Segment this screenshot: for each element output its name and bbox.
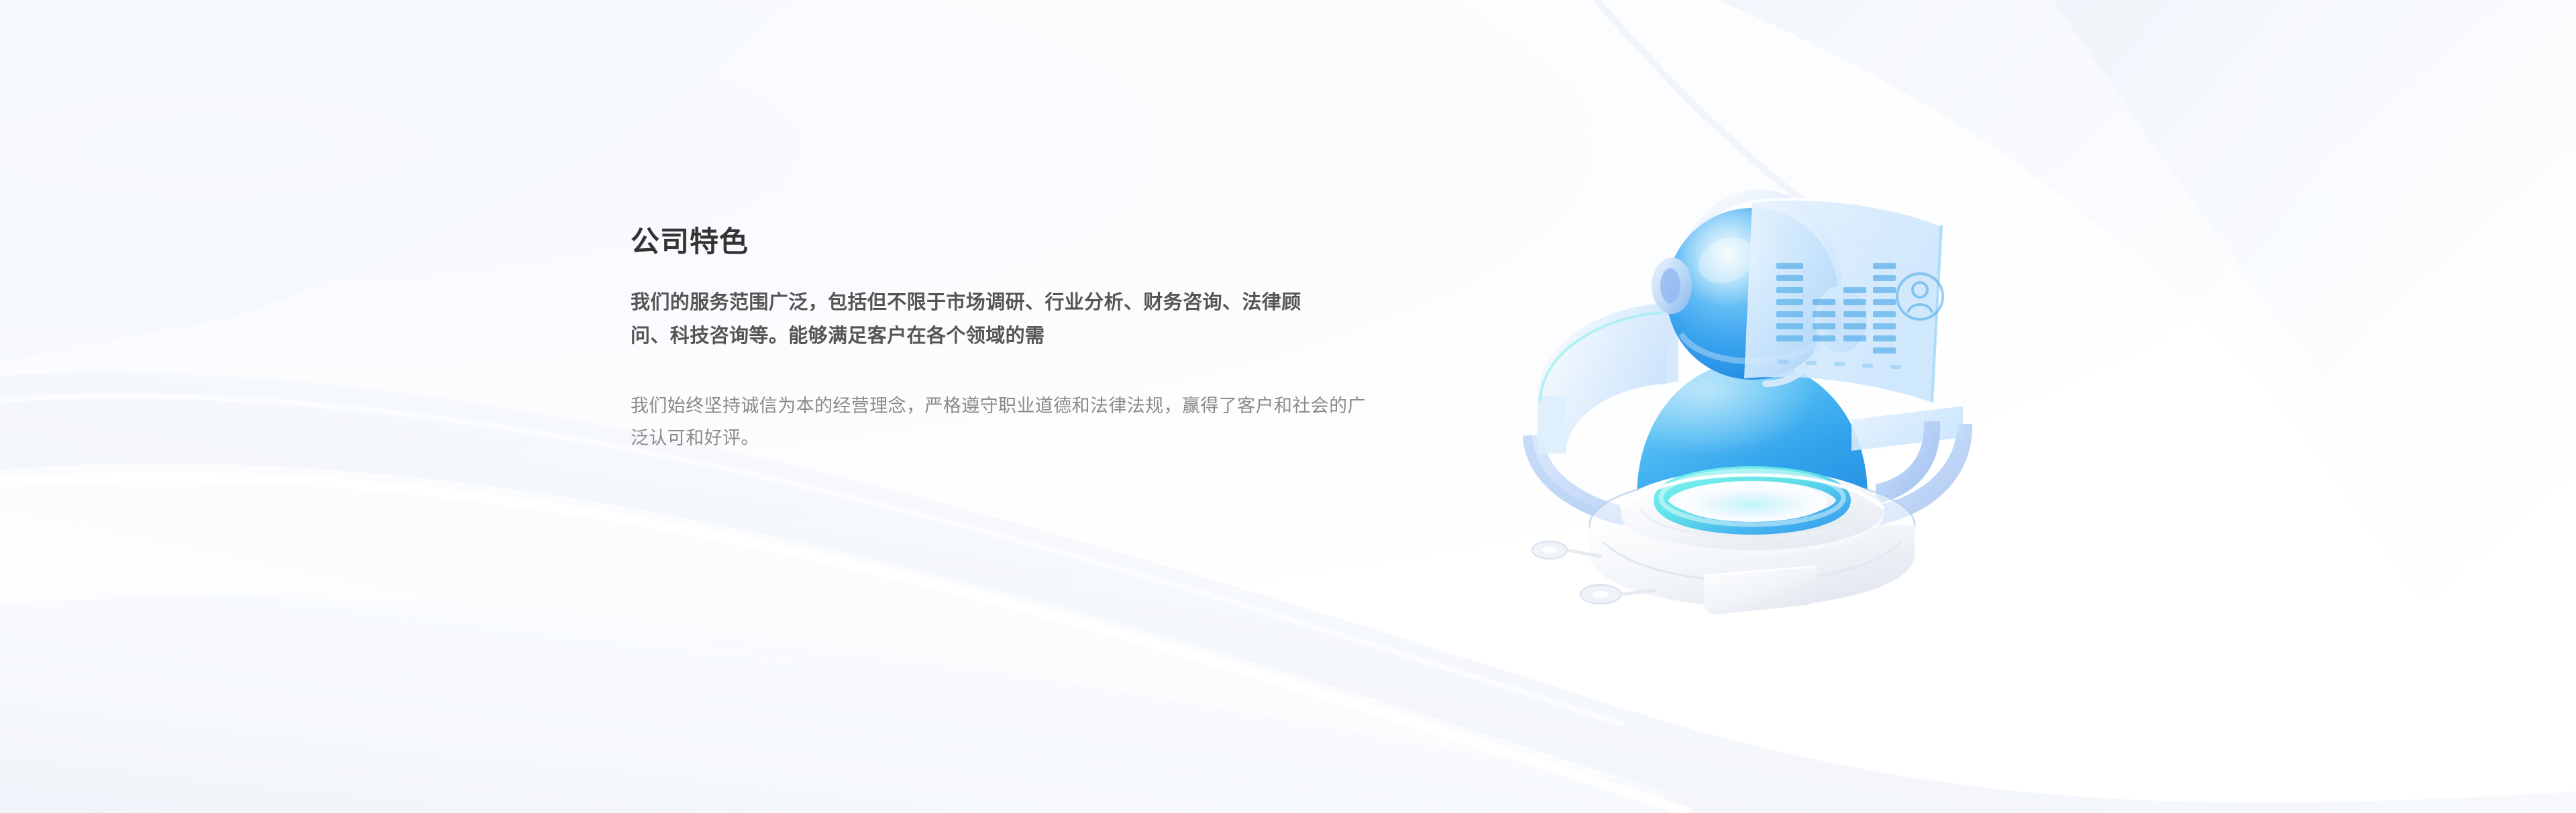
company-features-section: 公司特色 我们的服务范围广泛，包括但不限于市场调研、行业分析、财务咨询、法律顾问…: [0, 0, 2576, 813]
body-paragraph: 我们始终坚持诚信为本的经营理念，严格遵守职业道德和法律法规，赢得了客户和社会的广…: [631, 354, 1368, 454]
customer-service-illustration: [1503, 121, 2012, 631]
data-panel-right: [1744, 199, 1943, 402]
features-copy-block: 公司特色 我们的服务范围广泛，包括但不限于市场调研、行业分析、财务咨询、法律顾问…: [631, 227, 1422, 454]
page-title: 公司特色: [631, 227, 1422, 258]
lead-paragraph: 我们的服务范围广泛，包括但不限于市场调研、行业分析、财务咨询、法律顾问、科技咨询…: [631, 258, 1315, 354]
data-panel-small-right: [1851, 405, 1963, 451]
